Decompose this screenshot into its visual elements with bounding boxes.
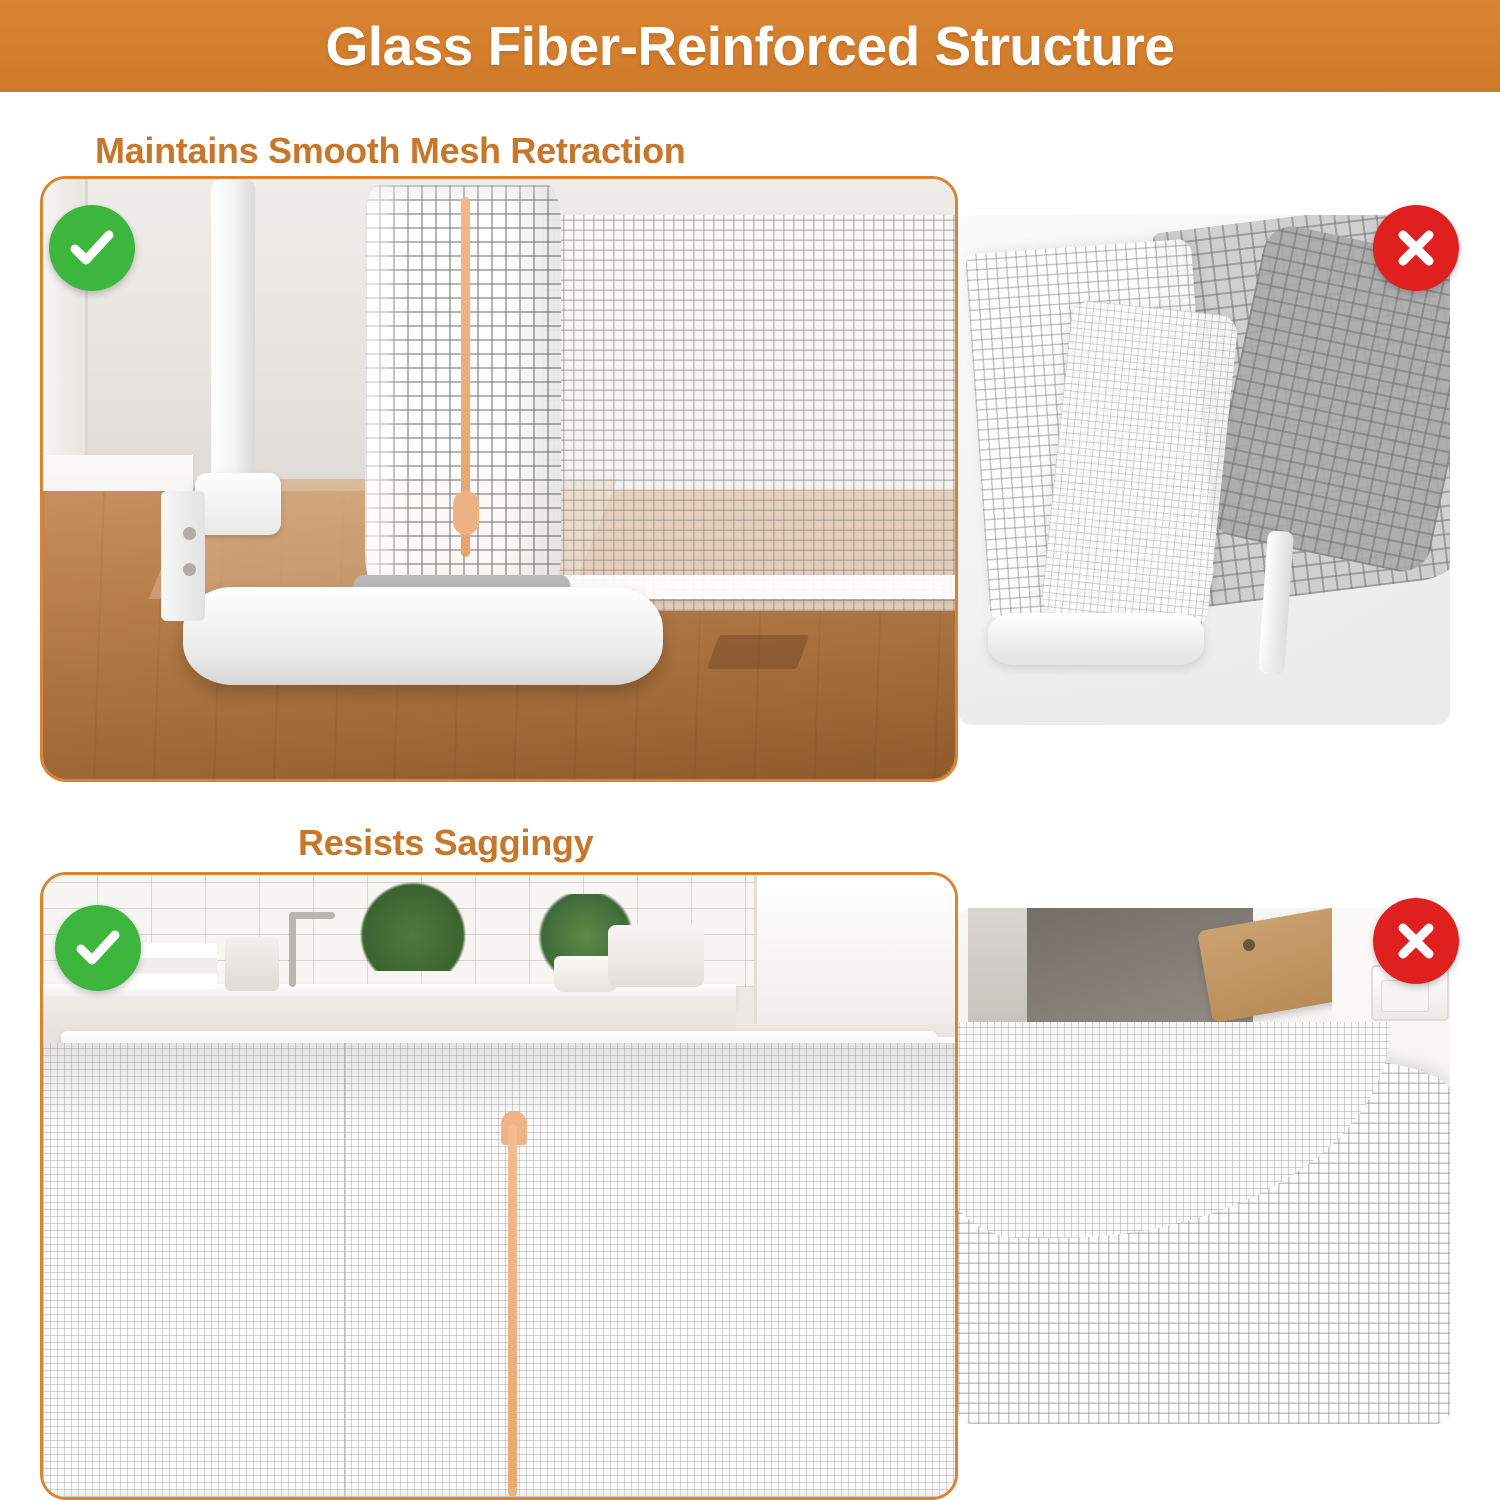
check-icon	[55, 905, 141, 991]
gate-pole	[211, 179, 255, 491]
bottom-fade	[958, 633, 1450, 725]
gate-base-plate	[183, 587, 663, 685]
faucet-arm	[289, 912, 335, 919]
cross-icon	[1373, 205, 1459, 291]
mesh-fold-back	[1040, 299, 1239, 631]
section-1-good-photo	[40, 176, 958, 782]
bracket-screw-top	[183, 527, 196, 540]
wall-bracket	[161, 491, 205, 621]
mesh-bottom-edge	[43, 1487, 955, 1497]
mesh-top-shadow	[43, 1043, 955, 1133]
page-title: Glass Fiber-Reinforced Structure	[326, 14, 1175, 78]
section-2-good-photo	[40, 872, 958, 1500]
plant-left	[353, 881, 473, 971]
window-area	[754, 875, 958, 1024]
floor-board-seam	[707, 635, 809, 669]
mesh-stripe-tip	[453, 491, 479, 535]
section-1-heading: Maintains Smooth Mesh Retraction	[95, 130, 685, 172]
section-1-bad-photo	[958, 215, 1450, 725]
mesh-orange-stripe	[508, 1124, 517, 1497]
check-icon	[49, 205, 135, 291]
counter-bottles	[608, 925, 704, 987]
bracket-screw-bottom	[183, 563, 196, 576]
light-switch-rocker	[1381, 980, 1429, 1012]
mesh-seam	[344, 1043, 346, 1497]
section-2-bad-photo	[958, 908, 1450, 1424]
mesh-panel	[543, 215, 958, 611]
faucet-stem	[289, 912, 296, 987]
pole-collar	[195, 473, 281, 535]
section-2-heading: Resists Saggingy	[298, 822, 593, 864]
header-banner: Glass Fiber-Reinforced Structure	[0, 0, 1500, 92]
cross-icon	[1373, 898, 1459, 984]
utensil-jars	[225, 937, 279, 991]
